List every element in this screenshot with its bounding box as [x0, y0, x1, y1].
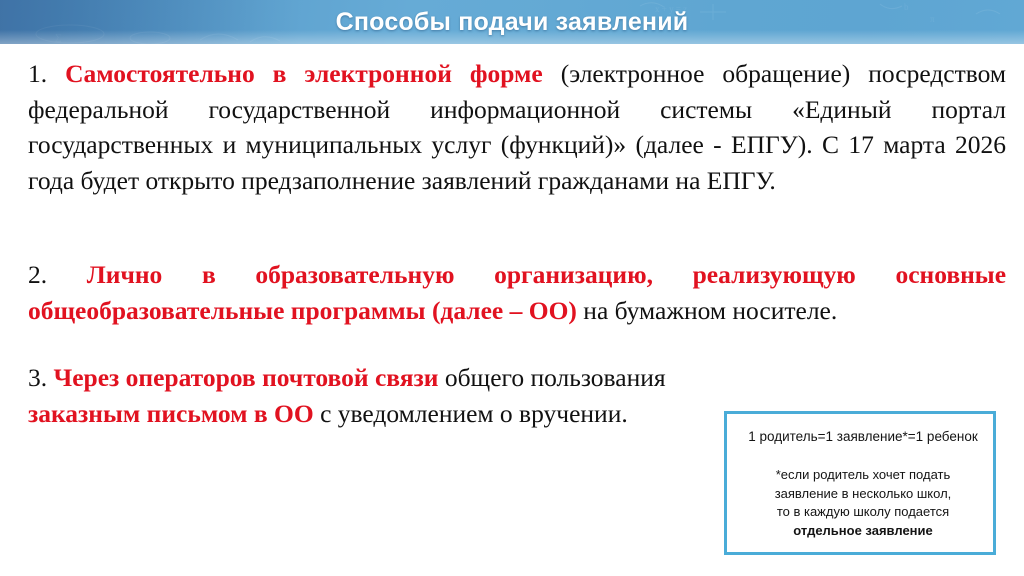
list-item-3-highlight-b: заказным письмом в ОО [28, 399, 314, 428]
list-item-2: 2. Лично в образовательную организацию, … [28, 257, 1006, 328]
slide-header-banner: x + y = z a b π ∑ Способы подачи заявлен… [0, 0, 1024, 44]
list-item-1-number: 1. [28, 59, 47, 88]
list-item-2-highlight-b: общеобразовательные программы (далее – О… [28, 296, 577, 325]
list-item-1-highlight: Самостоятельно в электронной форме [65, 59, 543, 88]
callout-box: 1 родитель=1 заявление*=1 ребенок *если … [724, 411, 996, 555]
list-item-3-text-b: с уведомлением о вручении. [320, 399, 628, 428]
list-item-2-number: 2. [28, 260, 47, 289]
list-item-2-highlight-a: Лично в образовательную организацию, реа… [87, 260, 1006, 289]
callout-note-line-1: *если родитель хочет подать [727, 466, 999, 485]
list-item-1-text-e: гражданами на ЕПГУ. [538, 166, 776, 195]
list-item-3-highlight-a: Через операторов почтовой связи [54, 363, 439, 392]
list-item-3-text-a: общего пользования [445, 363, 666, 392]
callout-note-emphasis: отдельное заявление [727, 522, 999, 541]
callout-headline: 1 родитель=1 заявление*=1 ребенок [727, 428, 999, 445]
list-item-2-text: на бумажном носителе. [583, 296, 837, 325]
callout-note-line-3: то в каждую школу подается [727, 503, 999, 522]
list-item-3-number: 3. [28, 363, 47, 392]
callout-note: *если родитель хочет подать заявление в … [727, 466, 999, 540]
callout-note-line-2: заявление в несколько школ, [727, 485, 999, 504]
slide-canvas: x + y = z a b π ∑ Способы подачи заявлен… [0, 0, 1024, 576]
page-title: Способы подачи заявлений [0, 0, 1024, 44]
list-item-1: 1. Самостоятельно в электронной форме (э… [28, 56, 1006, 198]
list-item-1-text-a: (электронное обращение) [561, 59, 851, 88]
list-item-3: 3. Через операторов почтовой связи общег… [28, 360, 728, 431]
